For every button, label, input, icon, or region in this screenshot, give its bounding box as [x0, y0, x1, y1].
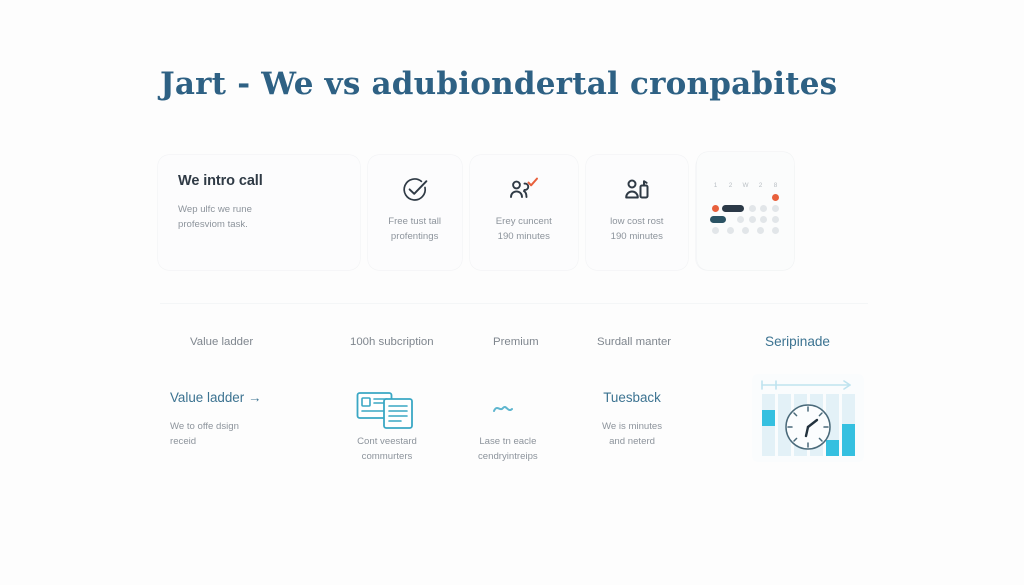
section-label-row: Value ladder 100h subcription Premium Su…	[160, 336, 870, 360]
calendar-week-row	[707, 205, 784, 212]
calendar-day[interactable]	[727, 227, 734, 234]
calendar-col-label: 8	[770, 182, 781, 189]
calendar-col-label: 2	[755, 182, 766, 189]
people-check-icon	[484, 173, 564, 207]
bottom-column-cendryintreips: Lase tn eacle cendryintreips	[478, 390, 538, 465]
bottom-column-body: Cont veestard commurters	[356, 434, 418, 465]
calendar-day-highlight[interactable]	[712, 205, 719, 212]
bottom-column-value-ladder: Value ladder→ We to offe dsign receid	[170, 390, 262, 450]
calendar-day[interactable]	[749, 205, 756, 212]
section-label-subscription[interactable]: 100h subcription	[350, 336, 434, 348]
calendar-col-label: 2	[725, 182, 736, 189]
calendar-day[interactable]	[772, 227, 779, 234]
bottom-column-body: We to offe dsign receid	[170, 419, 262, 450]
calendar-day[interactable]	[760, 216, 767, 223]
clock-bars-illustration[interactable]	[752, 374, 864, 462]
calendar-week-row	[707, 194, 784, 201]
tuesback-heading: Tuesback	[602, 390, 662, 405]
section-label-value-ladder[interactable]: Value ladder	[190, 336, 253, 348]
check-circle-icon	[382, 173, 448, 207]
calendar-day[interactable]	[760, 205, 767, 212]
timeline-arrow-icon	[762, 381, 850, 389]
arrow-right-icon: →	[248, 390, 261, 405]
calendar-event-pill[interactable]	[710, 216, 726, 223]
calendar-day[interactable]	[772, 216, 779, 223]
calendar-day[interactable]	[772, 205, 779, 212]
feature-card-free-trust[interactable]: Free tust tall profentings	[368, 155, 462, 270]
section-label-surdall-manter[interactable]: Surdall manter	[597, 336, 671, 348]
clock-icon	[786, 405, 830, 449]
calendar-grid	[707, 194, 784, 234]
cards-document-icon	[356, 390, 418, 428]
card-heading: We intro call	[178, 173, 346, 189]
feature-card-erey-cuncent[interactable]: Erey cuncent 190 minutes	[470, 155, 578, 270]
bottom-column-body: Lase tn eacle cendryintreips	[478, 434, 538, 465]
calendar-day[interactable]	[712, 227, 719, 234]
page-title: Jart - We vs adubiondertal cronpabites	[160, 66, 837, 102]
wave-icon	[478, 390, 538, 428]
page-root: Jart - We vs adubiondertal cronpabites W…	[0, 0, 1024, 585]
calendar-day[interactable]	[757, 227, 764, 234]
calendar-day-highlight[interactable]	[772, 194, 779, 201]
calendar-widget[interactable]: 1 2 W 2 8	[697, 152, 794, 270]
section-label-seripinade[interactable]: Seripinade	[765, 334, 830, 349]
feature-card-low-cost[interactable]: low cost rost 190 minutes	[586, 155, 688, 270]
card-body: Free tust tall profentings	[382, 215, 448, 245]
bottom-column-body: We is minutes and neterd	[602, 419, 662, 450]
calendar-day[interactable]	[742, 227, 749, 234]
bottom-column-commurters: Cont veestard commurters	[356, 390, 418, 465]
section-divider	[160, 303, 868, 304]
card-body: Wep ulfc we rune profesviom task.	[178, 203, 346, 233]
calendar-event-pill[interactable]	[722, 205, 744, 212]
feature-card-intro-call[interactable]: We intro call Wep ulfc we rune profesvio…	[158, 155, 360, 270]
calendar-day[interactable]	[737, 216, 744, 223]
bottom-column-tuesback: Tuesback We is minutes and neterd	[602, 390, 662, 450]
calendar-week-row	[707, 216, 784, 223]
card-body: Erey cuncent 190 minutes	[484, 215, 564, 245]
calendar-week-row	[707, 227, 784, 234]
card-body: low cost rost 190 minutes	[600, 215, 674, 245]
value-ladder-link-label: Value ladder	[170, 390, 244, 405]
section-label-premium[interactable]: Premium	[493, 336, 539, 348]
calendar-col-label: 1	[710, 182, 721, 189]
value-ladder-link[interactable]: Value ladder→	[170, 390, 262, 405]
person-growth-icon	[600, 173, 674, 207]
calendar-day[interactable]	[749, 216, 756, 223]
calendar-col-label: W	[740, 182, 751, 189]
calendar-header-row: 1 2 W 2 8	[707, 182, 784, 189]
